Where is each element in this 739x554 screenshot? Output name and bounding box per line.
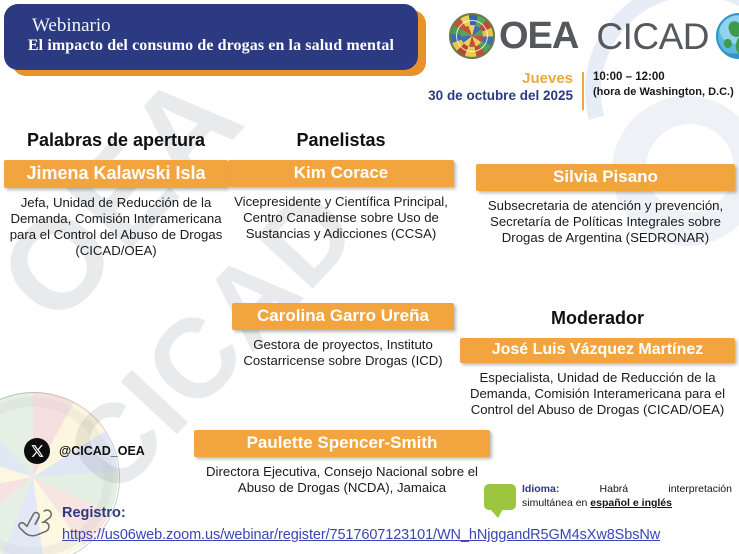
datetime-left: Jueves 30 de octubre del 2025 (420, 70, 582, 104)
panelist-bio: Subsecretaria de atención y prevención, … (476, 198, 735, 246)
datetime-right: 10:00 – 12:00 (hora de Washington, D.C.) (584, 70, 734, 99)
registration-link[interactable]: https://us06web.zoom.us/webinar/register… (62, 527, 660, 543)
globe-landmass (727, 19, 739, 38)
oas-seal-icon (449, 13, 495, 59)
moderator-column: Moderador José Luis Vázquez Martínez Esp… (460, 308, 735, 418)
moderator-heading: Moderador (460, 308, 735, 329)
opening-remarks-heading: Palabras de apertura (4, 130, 228, 151)
social-handle-text[interactable]: @CICAD_OEA (59, 444, 145, 458)
panelist-name-badge: Kim Corace (228, 160, 454, 187)
language-text-b: interpretación (668, 482, 732, 496)
webinar-poster: OEA CICAD Webinario El impacto del consu… (0, 0, 739, 554)
language-text-d: español e inglés (590, 497, 672, 509)
event-date: 30 de octubre del 2025 (420, 88, 573, 104)
event-day: Jueves (420, 70, 573, 87)
language-note-text: Idioma: Habrá interpretación simultánea … (522, 482, 732, 510)
social-handle-group[interactable]: @CICAD_OEA (24, 438, 145, 464)
speech-bubble-icon (484, 484, 516, 510)
speaker-bio: Jefa, Unidad de Reducción de la Demanda,… (4, 195, 228, 259)
panelist-block-carolina: Carolina Garro Ureña Gestora de proyecto… (232, 303, 454, 369)
moderator-name-badge: José Luis Vázquez Martínez (460, 338, 735, 363)
language-note: Idioma: Habrá interpretación simultánea … (484, 482, 735, 510)
opening-remarks-column: Palabras de apertura Jimena Kalawski Isl… (4, 130, 228, 259)
event-hours: 10:00 – 12:00 (593, 70, 734, 85)
banner-kicker: Webinario (32, 16, 111, 36)
panelist-name-badge: Paulette Spencer-Smith (194, 430, 490, 457)
x-twitter-icon[interactable] (24, 438, 50, 464)
organization-logo: OEA CICAD (449, 10, 735, 62)
globe-landmass (724, 39, 732, 48)
language-label: Idioma: (522, 482, 559, 496)
language-text-c: simultánea en (522, 497, 590, 509)
panelists-heading: Panelistas (228, 130, 454, 151)
pointing-hand-icon (14, 500, 58, 544)
speaker-name-badge: Jimena Kalawski Isla (4, 160, 228, 188)
panelist-block-silvia: Silvia Pisano Subsecretaria de atención … (476, 164, 735, 246)
language-text-a: Habrá (600, 482, 629, 496)
panelist-name-badge: Silvia Pisano (476, 164, 735, 191)
event-timezone: (hora de Washington, D.C.) (593, 85, 734, 99)
panelist-block-paulette: Paulette Spencer-Smith Directora Ejecuti… (194, 430, 490, 496)
page-title: El impacto del consumo de drogas en la s… (28, 37, 394, 55)
panelist-bio: Vicepresidente y Científica Principal, C… (228, 194, 454, 242)
panelists-column: Panelistas Kim Corace Vicepresidente y C… (228, 130, 454, 242)
panelist-bio: Gestora de proyectos, Instituto Costarri… (232, 337, 454, 369)
logo-cicad-text: CICAD (596, 18, 709, 55)
webinar-title-banner: Webinario El impacto del consumo de drog… (4, 4, 418, 70)
event-datetime: Jueves 30 de octubre del 2025 10:00 – 12… (420, 70, 735, 112)
logo-oea-text: OEA (499, 17, 578, 55)
panelist-bio: Directora Ejecutiva, Consejo Nacional so… (194, 464, 490, 496)
registration-label: Registro: (62, 505, 126, 522)
panelist-name-badge: Carolina Garro Ureña (232, 303, 454, 330)
moderator-bio: Especialista, Unidad de Reducción de la … (460, 370, 735, 418)
globe-icon (716, 13, 739, 59)
